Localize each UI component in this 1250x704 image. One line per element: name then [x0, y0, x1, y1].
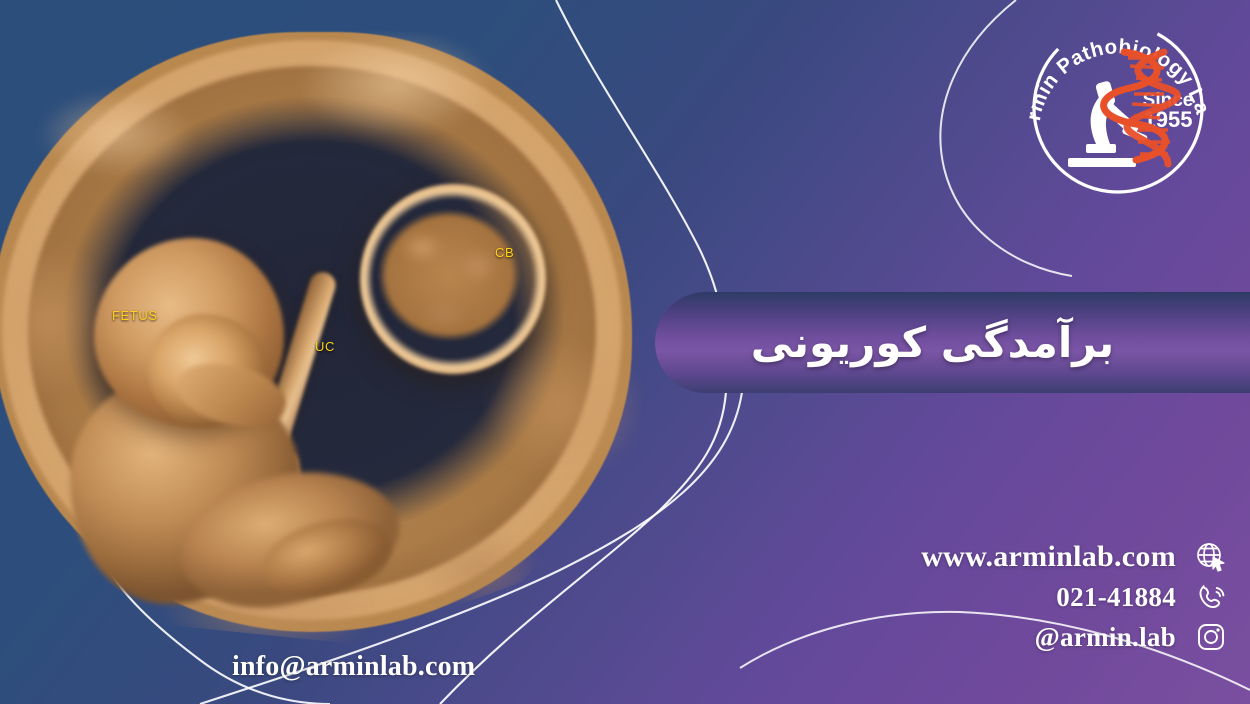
phone-text: 021-41884 [1056, 582, 1176, 613]
instagram-icon [1194, 620, 1228, 654]
contact-row-phone[interactable]: 021-41884 [828, 580, 1228, 614]
contact-row-website[interactable]: www.arminlab.com [828, 540, 1228, 574]
title-banner: برآمدگی کوریونی [655, 292, 1250, 393]
chorionic-bump-texture [376, 200, 530, 358]
contact-row-instagram[interactable]: @armin.lab [828, 620, 1228, 654]
label-cb: CB [495, 245, 514, 260]
page-title: برآمدگی کوریونی [751, 318, 1154, 367]
ultrasound-image [0, 22, 662, 644]
poster-canvas: FETUS UC CB برآمدگی کوریونی Armin Pathob… [0, 0, 1250, 704]
instagram-text: @armin.lab [1035, 622, 1176, 653]
contact-block: www.arminlab.com 021-41884 [828, 540, 1228, 654]
website-text: www.arminlab.com [921, 540, 1176, 574]
ultrasound-render [0, 22, 662, 644]
phone-icon [1194, 580, 1228, 614]
label-uc: UC [315, 339, 335, 354]
globe-icon [1194, 540, 1228, 574]
armin-lab-logo: Armin Pathobiology Lab Since 1955 [1018, 8, 1218, 208]
label-fetus: FETUS [112, 308, 158, 323]
email-text: info@arminlab.com [232, 651, 475, 683]
